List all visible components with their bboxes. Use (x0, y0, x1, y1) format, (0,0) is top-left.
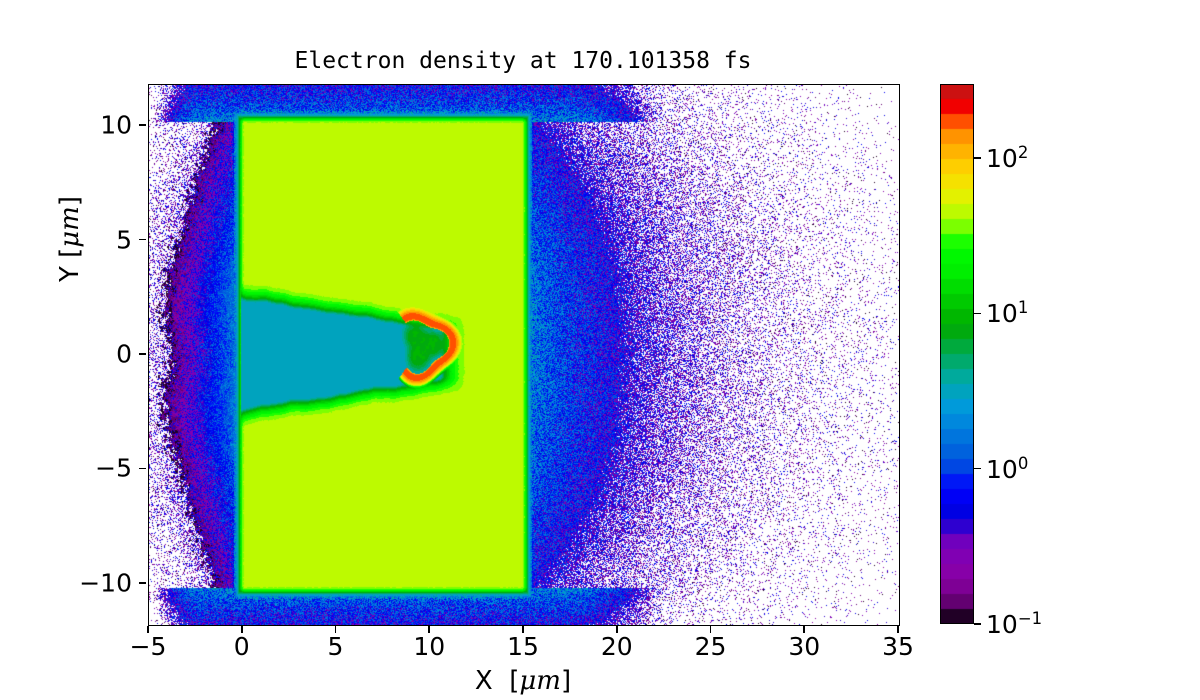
x-tick-label: 35 (882, 632, 914, 661)
y-tick-mark (139, 582, 146, 584)
y-tick-mark (139, 239, 146, 241)
x-tick-label: −5 (130, 632, 167, 661)
y-tick-mark (139, 124, 146, 126)
colorbar-tick-label: 102 (986, 143, 1028, 173)
x-axis-label: X [μm] (148, 666, 898, 696)
page-title: Electron density at 170.101358 fs (148, 48, 898, 74)
x-tick-label: 20 (601, 632, 633, 661)
y-tick-mark (139, 353, 146, 355)
x-tick-label: 25 (695, 632, 727, 661)
colorbar-tick-label: 101 (986, 298, 1028, 328)
y-axis-label: Y [μm] (55, 109, 85, 369)
x-tick-label: 5 (328, 632, 344, 661)
x-tick-label: 10 (413, 632, 445, 661)
colorbar-tick-mark (974, 313, 981, 315)
figure-root: Electron density at 170.101358 fs −50510… (0, 0, 1200, 700)
colorbar (940, 84, 974, 624)
y-axis-label-text: Y [μm] (55, 196, 85, 282)
colorbar-tick-mark (974, 623, 981, 625)
y-tick-label: −10 (62, 568, 132, 597)
colorbar-tick-mark (974, 157, 981, 159)
x-axis-label-text: X [μm] (475, 666, 571, 696)
colorbar-gradient (940, 84, 974, 624)
plot-axes-frame (148, 84, 900, 626)
y-tick-label: −5 (62, 454, 132, 483)
x-tick-label: 0 (234, 632, 250, 661)
colorbar-tick-label: 10−1 (986, 609, 1042, 639)
colorbar-tick-mark (974, 468, 981, 470)
x-tick-label: 30 (788, 632, 820, 661)
colorbar-tick-label: 100 (986, 454, 1028, 484)
electron-density-heatmap (149, 85, 899, 625)
x-tick-label: 15 (507, 632, 539, 661)
y-tick-mark (139, 468, 146, 470)
